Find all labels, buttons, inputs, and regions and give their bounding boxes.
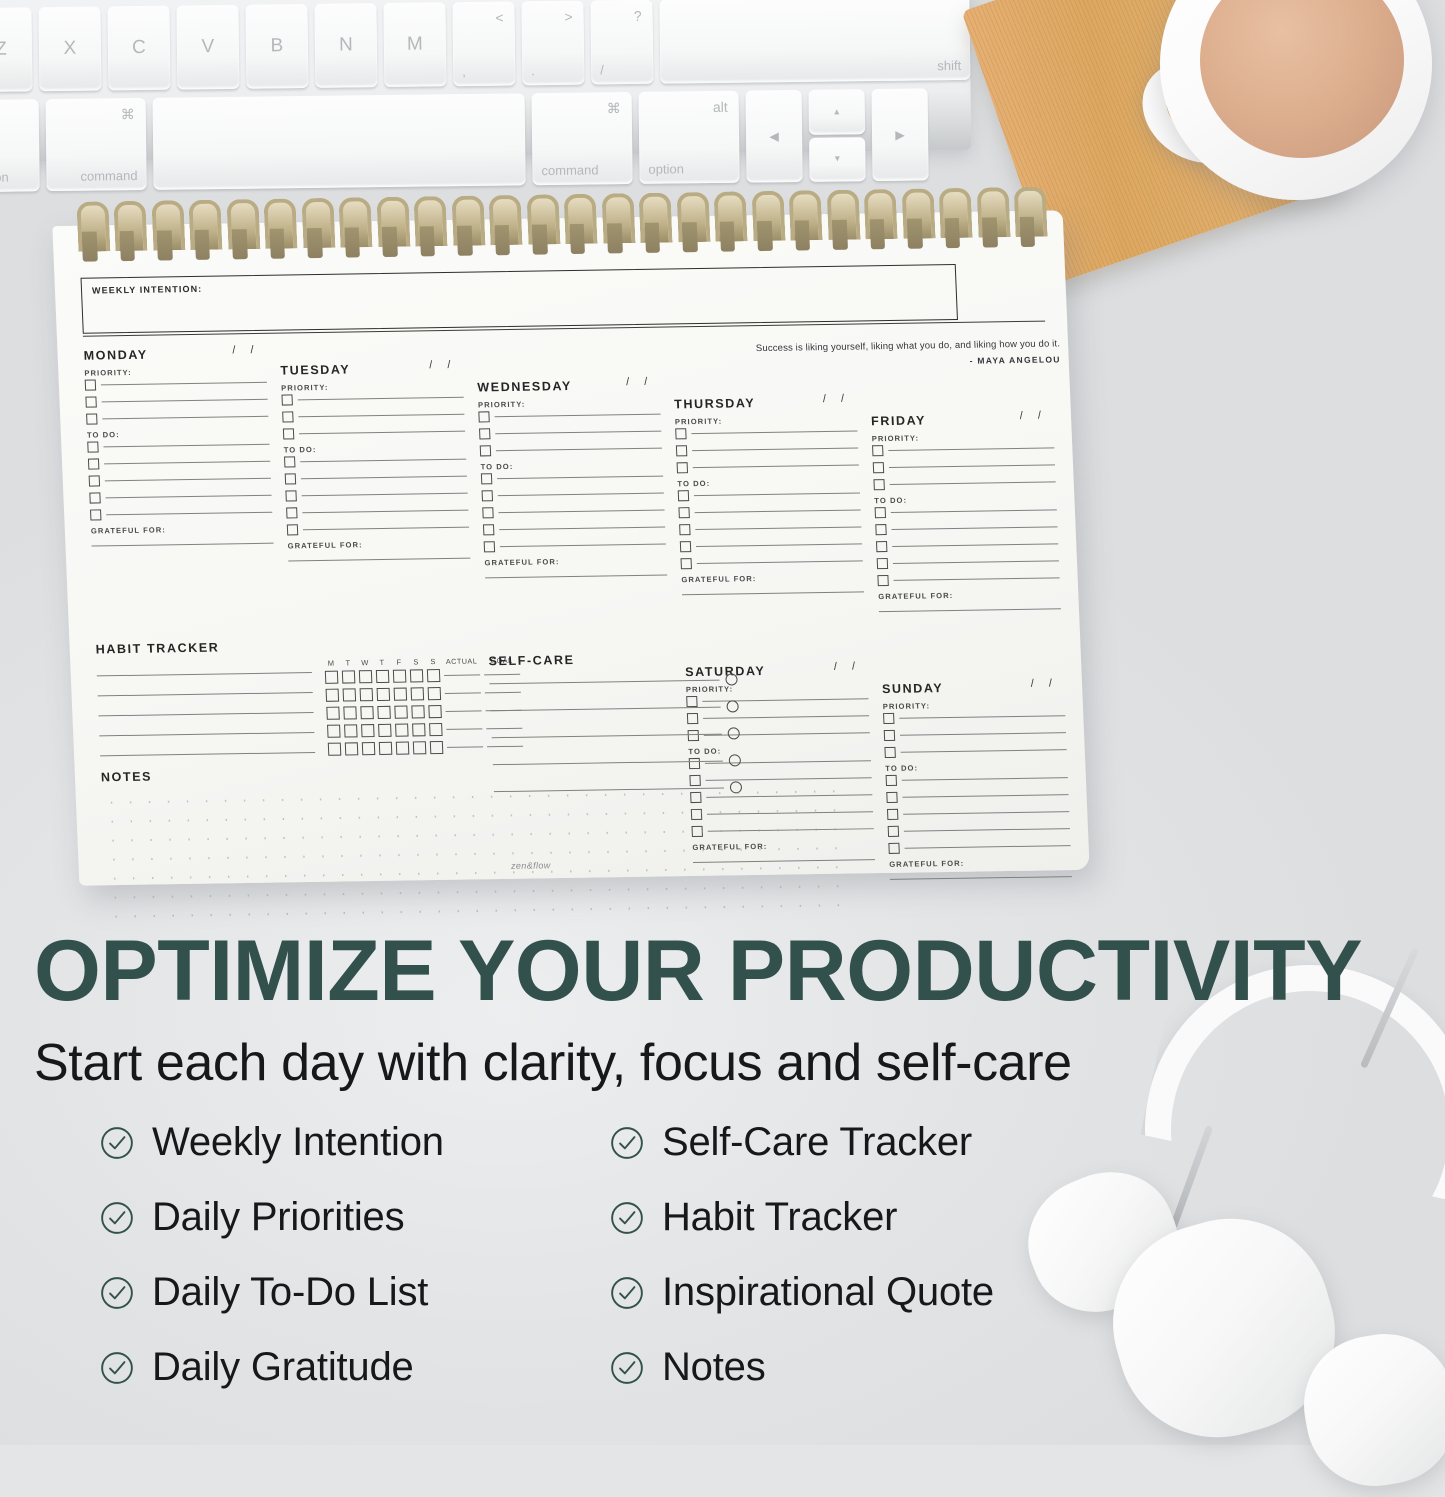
priority-row[interactable] <box>282 409 464 423</box>
todo-row[interactable] <box>285 488 467 502</box>
feature-label: Notes <box>662 1345 766 1390</box>
checkbox-icon[interactable] <box>877 575 888 586</box>
day-name: THURSDAY <box>674 396 756 411</box>
feature-item: Notes <box>610 1345 1100 1390</box>
priority-label: PRIORITY: <box>883 699 1065 711</box>
self-care-row[interactable] <box>491 727 740 743</box>
habit-checkbox-icon[interactable] <box>379 742 393 755</box>
key-option-left[interactable]: ption <box>0 99 40 192</box>
habit-checkbox-icon[interactable] <box>361 724 375 737</box>
todo-row[interactable] <box>284 454 466 468</box>
todo-row[interactable] <box>888 840 1070 854</box>
spiral-ring <box>519 194 559 257</box>
write-line <box>904 828 1070 832</box>
key-arrow-left[interactable]: ◂ <box>746 90 803 183</box>
checkbox-icon[interactable] <box>872 445 883 456</box>
habit-checkbox-icon[interactable] <box>394 688 408 701</box>
feature-label: Daily Priorities <box>152 1195 404 1240</box>
habit-checkbox-icon[interactable] <box>428 687 442 700</box>
notes-section: NOTES <box>101 759 847 922</box>
key-z[interactable]: Z <box>0 7 32 92</box>
check-circle-icon <box>610 1276 644 1310</box>
checkbox-icon[interactable] <box>681 558 692 569</box>
check-circle-icon <box>100 1276 134 1310</box>
todo-row[interactable] <box>888 823 1070 837</box>
todo-row[interactable] <box>89 473 271 487</box>
habit-actual-line[interactable] <box>444 674 480 676</box>
habit-checkbox-icon[interactable] <box>410 669 424 682</box>
todo-row[interactable] <box>482 488 664 502</box>
feature-label: Self-Care Tracker <box>662 1120 972 1165</box>
spiral-ring <box>670 192 710 255</box>
check-circle-icon <box>100 1126 134 1160</box>
self-care-row[interactable] <box>490 700 739 716</box>
habit-day-header: T <box>341 658 354 667</box>
priority-row[interactable] <box>872 442 1054 456</box>
checkbox-icon[interactable] <box>680 541 691 552</box>
spiral-ring <box>182 200 222 263</box>
habit-checkbox-icon[interactable] <box>395 724 409 737</box>
check-circle-icon <box>610 1351 644 1385</box>
todo-row[interactable] <box>887 806 1069 820</box>
write-line <box>105 478 271 482</box>
write-line <box>491 706 721 711</box>
habit-checkbox-icon[interactable] <box>343 706 357 719</box>
write-line <box>889 464 1055 468</box>
weekly-planner: WEEKLY INTENTION: Success is liking your… <box>52 210 1089 885</box>
write-line <box>890 481 1056 485</box>
page-subtitle: Start each day with clarity, focus and s… <box>34 1033 1072 1093</box>
habit-day-header: M <box>324 659 337 668</box>
key-b[interactable]: B <box>245 4 308 89</box>
write-line <box>893 560 1059 564</box>
priority-row[interactable] <box>873 459 1055 473</box>
habit-checkbox-icon[interactable] <box>343 688 357 701</box>
checkbox-icon[interactable] <box>678 507 689 518</box>
checkbox-icon[interactable] <box>875 507 886 518</box>
write-line <box>302 510 468 514</box>
spiral-ring <box>69 201 109 264</box>
habit-checkbox-icon[interactable] <box>326 707 340 720</box>
todo-row[interactable] <box>875 521 1057 535</box>
habit-checkbox-icon[interactable] <box>413 741 427 754</box>
spiral-ring <box>782 190 822 253</box>
todo-row[interactable] <box>679 521 861 535</box>
todo-row[interactable] <box>886 772 1068 786</box>
write-line <box>695 509 861 513</box>
arrow-left-icon: ◂ <box>769 125 779 148</box>
spiral-ring <box>820 190 860 253</box>
grateful-label: GRATEFUL FOR: <box>484 555 666 567</box>
feature-item: Daily To-Do List <box>100 1270 610 1315</box>
key-arrow-down[interactable]: ▾ <box>809 137 866 182</box>
write-line <box>300 459 466 463</box>
checkbox-icon[interactable] <box>283 428 294 439</box>
checkbox-icon[interactable] <box>888 843 899 854</box>
todo-row[interactable] <box>286 505 468 519</box>
todo-row[interactable] <box>90 507 272 521</box>
write-line <box>492 733 722 738</box>
todo-row[interactable] <box>877 555 1059 569</box>
write-line <box>489 679 719 684</box>
day-date-field[interactable]: / / <box>429 359 457 371</box>
checkbox-icon[interactable] <box>285 473 296 484</box>
day-name: WEDNESDAY <box>477 379 572 394</box>
checkbox-icon[interactable] <box>884 730 895 741</box>
todo-row[interactable] <box>484 539 666 553</box>
checkbox-icon[interactable] <box>90 509 101 520</box>
key-n[interactable]: N <box>314 3 377 88</box>
keyboard-bottom-row: ption command ⌘ command ⌘ option alt ◂ ▴… <box>0 88 972 192</box>
priority-row[interactable] <box>283 426 465 440</box>
habit-name-line[interactable] <box>98 692 313 696</box>
priority-row[interactable] <box>281 392 463 406</box>
habit-checkbox-icon[interactable] <box>412 723 426 736</box>
checkbox-icon[interactable] <box>883 713 894 724</box>
write-line <box>499 527 665 531</box>
checkbox-icon[interactable] <box>88 458 99 469</box>
write-line <box>900 732 1066 736</box>
checkbox-icon[interactable] <box>884 747 895 758</box>
todo-row[interactable] <box>678 504 860 518</box>
command-symbol-icon-right: ⌘ <box>607 100 621 117</box>
write-line <box>102 399 268 403</box>
self-care-title: SELF-CARE <box>488 650 737 668</box>
spiral-ring <box>294 198 334 261</box>
write-line <box>903 811 1069 815</box>
spiral-ring <box>144 200 184 263</box>
todo-row[interactable] <box>481 471 663 485</box>
spiral-ring <box>707 191 747 254</box>
day-name: SUNDAY <box>882 681 944 696</box>
checkbox-icon[interactable] <box>287 524 298 535</box>
checkbox-icon[interactable] <box>875 524 886 535</box>
feature-label: Daily Gratitude <box>152 1345 414 1390</box>
feature-label: Habit Tracker <box>662 1195 897 1240</box>
habit-day-header: F <box>392 658 405 667</box>
habit-checkbox-icon[interactable] <box>362 742 376 755</box>
check-circle-icon <box>610 1201 644 1235</box>
feature-item: Inspirational Quote <box>610 1270 1100 1315</box>
spiral-ring <box>482 195 522 258</box>
write-line <box>694 492 860 496</box>
checkbox-icon[interactable] <box>89 492 100 503</box>
spiral-ring <box>557 194 597 257</box>
day-name: MONDAY <box>83 348 148 363</box>
grateful-label: GRATEFUL FOR: <box>91 524 273 536</box>
checkbox-icon[interactable] <box>873 479 884 490</box>
write-line <box>495 414 661 418</box>
spiral-ring <box>594 193 634 256</box>
grateful-line[interactable] <box>91 543 273 547</box>
grateful-label: GRATEFUL FOR: <box>878 589 1060 601</box>
priority-row[interactable] <box>86 411 268 425</box>
habit-checkbox-icon[interactable] <box>359 670 373 683</box>
day-date-field[interactable]: / / <box>232 344 260 356</box>
spiral-ring <box>107 201 147 264</box>
circle-checkbox-icon[interactable] <box>726 700 738 712</box>
brand-logo: zen&flow <box>511 860 551 871</box>
feature-item: Daily Priorities <box>100 1195 610 1240</box>
key-slash[interactable]: ? / <box>590 0 653 84</box>
write-line <box>106 495 272 499</box>
day-date-field[interactable]: / / <box>834 660 862 672</box>
checkbox-icon[interactable] <box>478 411 489 422</box>
write-line <box>104 461 270 465</box>
todo-row[interactable] <box>88 456 270 470</box>
todo-row[interactable] <box>678 487 860 501</box>
todo-row[interactable] <box>89 490 271 504</box>
checkbox-icon[interactable] <box>86 413 97 424</box>
key-arrow-right[interactable]: ▸ <box>871 88 928 181</box>
spiral-ring <box>444 195 484 258</box>
habit-checkbox-icon[interactable] <box>344 724 358 737</box>
keyboard-letter-row: Z X C V B N M < , > . ? / shift <box>0 0 970 92</box>
spiral-ring <box>857 189 897 252</box>
habit-checkbox-icon[interactable] <box>429 723 443 736</box>
write-line <box>894 577 1060 581</box>
checkbox-icon[interactable] <box>677 462 688 473</box>
checkbox-icon[interactable] <box>482 507 493 518</box>
checkbox-icon[interactable] <box>87 441 98 452</box>
priority-row[interactable] <box>884 727 1066 741</box>
write-line <box>298 414 464 418</box>
notes-title: NOTES <box>101 759 842 785</box>
write-line <box>302 493 468 497</box>
habit-col-header: ACTUAL <box>443 656 479 666</box>
checkbox-icon[interactable] <box>85 380 96 391</box>
priority-row[interactable] <box>675 426 857 440</box>
todo-row[interactable] <box>287 522 469 536</box>
checkbox-icon[interactable] <box>89 475 100 486</box>
key-shift-right[interactable]: shift <box>659 0 970 84</box>
checkbox-icon[interactable] <box>886 775 897 786</box>
habit-checkbox-icon[interactable] <box>376 670 390 683</box>
spiral-ring <box>369 197 409 260</box>
write-line <box>500 544 666 548</box>
write-line <box>693 464 859 468</box>
key-arrow-up[interactable]: ▴ <box>808 89 865 134</box>
priority-row[interactable] <box>479 426 661 440</box>
grateful-line[interactable] <box>682 591 864 595</box>
checkbox-icon[interactable] <box>483 524 494 535</box>
checkbox-icon[interactable] <box>873 462 884 473</box>
write-line <box>298 397 464 401</box>
day-header: / /FRIDAY <box>871 409 1054 430</box>
habit-actual-line[interactable] <box>446 728 482 730</box>
checkbox-icon[interactable] <box>886 792 897 803</box>
priority-row[interactable] <box>478 409 660 423</box>
checkbox-icon[interactable] <box>877 558 888 569</box>
check-circle-icon <box>100 1351 134 1385</box>
habit-checkbox-icon[interactable] <box>377 706 391 719</box>
circle-checkbox-icon[interactable] <box>727 727 739 739</box>
habit-checkbox-icon[interactable] <box>328 743 342 756</box>
checkbox-icon[interactable] <box>676 445 687 456</box>
key-v[interactable]: V <box>176 5 239 90</box>
day-block-monday: / /MONDAYPRIORITY:TO DO:GRATEFUL FOR: <box>83 344 273 547</box>
habit-day-header: W <box>358 658 371 667</box>
circle-checkbox-icon[interactable] <box>725 673 737 685</box>
key-c[interactable]: C <box>107 6 170 91</box>
day-name: TUESDAY <box>280 363 350 378</box>
day-header: / /THURSDAY <box>674 393 857 414</box>
habit-actual-line[interactable] <box>445 692 481 694</box>
checkbox-icon[interactable] <box>482 490 493 501</box>
write-line <box>902 794 1068 798</box>
priority-row[interactable] <box>873 476 1055 490</box>
checkbox-icon[interactable] <box>85 396 96 407</box>
habit-name-line[interactable] <box>97 672 312 676</box>
todo-row[interactable] <box>483 522 665 536</box>
checkbox-icon[interactable] <box>484 541 495 552</box>
priority-row[interactable] <box>480 443 662 457</box>
feature-label: Inspirational Quote <box>662 1270 994 1315</box>
priority-row[interactable] <box>85 394 267 408</box>
feature-label: Daily To-Do List <box>152 1270 428 1315</box>
habit-checkbox-icon[interactable] <box>342 670 356 683</box>
key-space[interactable] <box>153 93 526 190</box>
key-comma[interactable]: < , <box>452 1 515 86</box>
checkbox-icon[interactable] <box>887 809 898 820</box>
habit-name-line[interactable] <box>100 752 315 756</box>
todo-row[interactable] <box>680 538 862 552</box>
habit-name-line[interactable] <box>98 712 313 716</box>
habit-name-line[interactable] <box>99 732 314 736</box>
day-header: / /TUESDAY <box>280 359 463 380</box>
checkbox-icon[interactable] <box>479 428 490 439</box>
day-date-field[interactable]: / / <box>1020 410 1048 422</box>
habit-checkbox-icon[interactable] <box>360 688 374 701</box>
checkbox-icon[interactable] <box>282 411 293 422</box>
habit-checkbox-icon[interactable] <box>377 688 391 701</box>
todo-row[interactable] <box>285 471 467 485</box>
habit-checkbox-icon[interactable] <box>394 706 408 719</box>
todo-row[interactable] <box>87 439 269 453</box>
habit-checkbox-icon[interactable] <box>396 742 410 755</box>
key-command-right[interactable]: command ⌘ <box>532 92 633 185</box>
habit-checkbox-icon[interactable] <box>411 705 425 718</box>
day-block-sunday: / /SUNDAYPRIORITY:TO DO:GRATEFUL FOR: <box>882 677 1072 880</box>
write-line <box>495 431 661 435</box>
check-circle-icon <box>100 1201 134 1235</box>
habit-checkbox-icon[interactable] <box>411 687 425 700</box>
write-line <box>498 510 664 514</box>
self-care-row[interactable] <box>489 673 738 689</box>
write-line <box>902 777 1068 781</box>
checkbox-icon[interactable] <box>876 541 887 552</box>
todo-row[interactable] <box>877 572 1059 586</box>
todo-row[interactable] <box>886 789 1068 803</box>
feature-item: Habit Tracker <box>610 1195 1100 1240</box>
day-grid: / /MONDAYPRIORITY:TO DO:GRATEFUL FOR:/ /… <box>83 328 1066 841</box>
checkbox-icon[interactable] <box>678 490 689 501</box>
write-line <box>891 509 1057 513</box>
key-period[interactable]: > . <box>521 1 584 86</box>
habit-actual-line[interactable] <box>446 710 482 712</box>
priority-label: PRIORITY: <box>281 381 463 393</box>
key-command-left[interactable]: command ⌘ <box>46 98 147 191</box>
checkbox-icon[interactable] <box>284 456 295 467</box>
write-line <box>891 526 1057 530</box>
habit-checkbox-icon[interactable] <box>430 741 444 754</box>
write-line <box>299 431 465 435</box>
priority-label: PRIORITY: <box>872 431 1054 443</box>
spiral-ring <box>219 199 259 262</box>
priority-row[interactable] <box>677 459 859 473</box>
priority-row[interactable] <box>883 710 1065 724</box>
write-line <box>102 416 268 420</box>
habit-checkbox-icon[interactable] <box>378 724 392 737</box>
grateful-label: GRATEFUL FOR: <box>681 572 863 584</box>
write-line <box>888 447 1054 451</box>
habit-checkbox-icon[interactable] <box>327 725 341 738</box>
habit-checkbox-icon[interactable] <box>393 670 407 683</box>
checkbox-icon[interactable] <box>675 428 686 439</box>
day-block-wednesday: / /WEDNESDAYPRIORITY:TO DO:GRATEFUL FOR: <box>477 376 667 579</box>
todo-row[interactable] <box>875 504 1057 518</box>
notes-dot-grid[interactable] <box>102 782 847 922</box>
write-line <box>101 382 267 386</box>
checkbox-icon[interactable] <box>480 445 491 456</box>
habit-checkbox-icon[interactable] <box>345 742 359 755</box>
checkbox-icon[interactable] <box>481 473 492 484</box>
checkbox-icon[interactable] <box>281 394 292 405</box>
spiral-ring <box>632 193 672 256</box>
todo-row[interactable] <box>482 505 664 519</box>
key-x[interactable]: X <box>38 6 101 91</box>
grateful-line[interactable] <box>879 608 1061 612</box>
todo-row[interactable] <box>876 538 1058 552</box>
todo-label: TO DO: <box>677 476 859 488</box>
key-option-right[interactable]: option alt <box>639 91 740 184</box>
keyboard: Z X C V B N M < , > . ? / shift ption co… <box>0 0 971 162</box>
write-line <box>106 512 272 516</box>
page-title: OPTIMIZE YOUR PRODUCTIVITY <box>34 928 1364 1014</box>
checkbox-icon[interactable] <box>286 507 297 518</box>
key-m[interactable]: M <box>383 2 446 87</box>
write-line <box>496 448 662 452</box>
habit-actual-line[interactable] <box>447 746 483 748</box>
priority-row[interactable] <box>884 744 1066 758</box>
grateful-label: GRATEFUL FOR: <box>889 857 1071 869</box>
checkbox-icon[interactable] <box>679 524 690 535</box>
habit-checkbox-icon[interactable] <box>360 706 374 719</box>
day-date-field[interactable]: / / <box>823 393 851 405</box>
write-line <box>697 560 863 564</box>
checkbox-icon[interactable] <box>285 490 296 501</box>
day-block-thursday: / /THURSDAYPRIORITY:TO DO:GRATEFUL FOR: <box>674 393 864 596</box>
priority-row[interactable] <box>676 443 858 457</box>
habit-checkbox-icon[interactable] <box>427 669 441 682</box>
feature-item: Weekly Intention <box>100 1120 610 1165</box>
grateful-line[interactable] <box>485 574 667 578</box>
day-date-field[interactable]: / / <box>626 376 654 388</box>
todo-row[interactable] <box>681 555 863 569</box>
checkbox-icon[interactable] <box>888 826 899 837</box>
day-date-field[interactable]: / / <box>1031 677 1059 689</box>
write-line <box>303 527 469 531</box>
grateful-line[interactable] <box>288 558 470 562</box>
planner-page: WEEKLY INTENTION: Success is liking your… <box>54 242 1090 885</box>
todo-label: TO DO: <box>87 428 269 440</box>
habit-checkbox-icon[interactable] <box>325 671 339 684</box>
priority-row[interactable] <box>85 377 267 391</box>
habit-checkbox-icon[interactable] <box>428 705 442 718</box>
habit-tracker-section: HABIT TRACKERMTWTFSSACTUALGOAL <box>95 639 315 756</box>
write-line <box>899 715 1065 719</box>
habit-checkbox-icon[interactable] <box>326 689 340 702</box>
